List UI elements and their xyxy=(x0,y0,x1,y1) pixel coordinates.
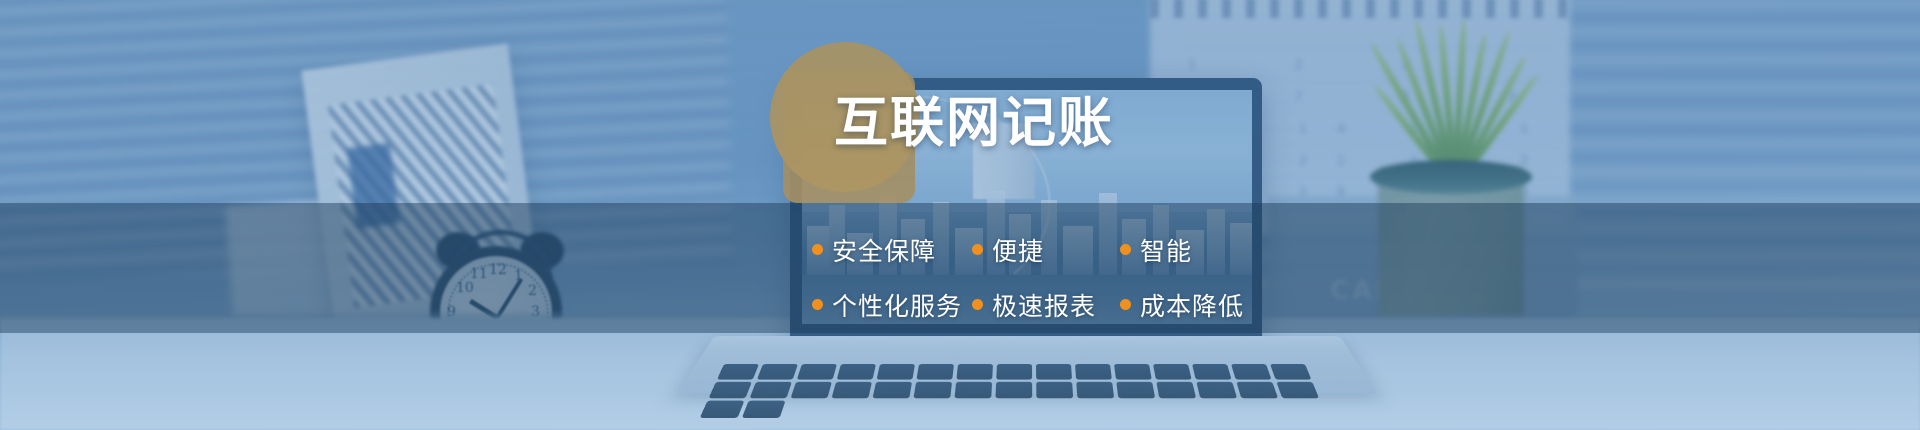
feature-item-security: 安全保障 xyxy=(812,232,972,268)
bullet-dot-icon xyxy=(812,299,823,310)
feature-item-lower-cost: 成本降低 xyxy=(1120,287,1244,323)
bullet-dot-icon xyxy=(972,299,983,310)
banner-content: 互联网记账 安全保障 便捷 智能 个性化服务 极速报表 xyxy=(0,0,1920,430)
feature-label: 成本降低 xyxy=(1140,287,1244,323)
bullet-dot-icon xyxy=(972,244,983,255)
promo-banner: 1 2 3 6 7 8 9 10 13 14 15 16 17 20 21 22… xyxy=(0,0,1920,430)
bullet-dot-icon xyxy=(1120,299,1131,310)
feature-label: 智能 xyxy=(1140,232,1192,268)
feature-label: 极速报表 xyxy=(992,287,1096,323)
bullet-dot-icon xyxy=(1120,244,1131,255)
feature-label: 安全保障 xyxy=(832,232,936,268)
bullet-dot-icon xyxy=(812,244,823,255)
feature-label: 便捷 xyxy=(992,232,1044,268)
feature-label: 个性化服务 xyxy=(832,287,962,323)
feature-item-fast-reports: 极速报表 xyxy=(972,287,1120,323)
feature-list: 安全保障 便捷 智能 个性化服务 极速报表 成本降低 xyxy=(812,222,1244,332)
feature-item-personalized-service: 个性化服务 xyxy=(812,287,972,323)
feature-item-intelligent: 智能 xyxy=(1120,232,1244,268)
feature-item-convenient: 便捷 xyxy=(972,232,1120,268)
banner-title: 互联网记账 xyxy=(834,96,1114,150)
